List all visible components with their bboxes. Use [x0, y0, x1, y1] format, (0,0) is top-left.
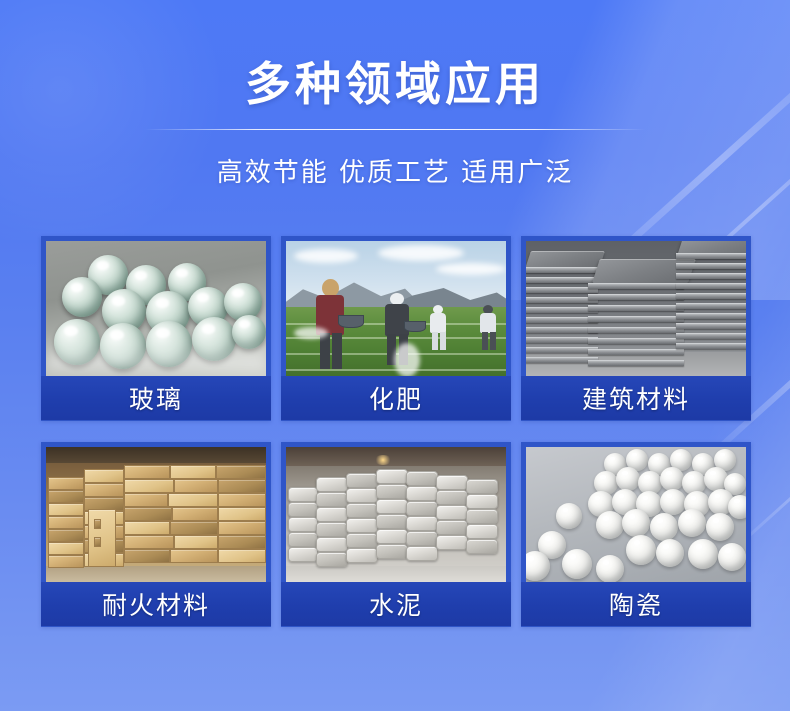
- card-image-glass: [46, 241, 266, 376]
- application-card-ceramic[interactable]: 陶瓷: [521, 442, 751, 627]
- card-image-refractory: [46, 447, 266, 582]
- title-divider: [145, 129, 645, 130]
- application-card-refractory[interactable]: 耐火材料: [41, 442, 271, 627]
- card-label-glass: 玻璃: [41, 376, 271, 420]
- application-cards-grid: 玻璃: [41, 236, 752, 627]
- card-label-ceramic: 陶瓷: [521, 582, 751, 626]
- application-card-fertilizer[interactable]: 化肥: [281, 236, 511, 421]
- page-title: 多种领域应用: [0, 58, 790, 111]
- card-image-cement: [286, 447, 506, 582]
- promo-banner: 多种领域应用 高效节能 优质工艺 适用广泛 玻璃: [0, 0, 790, 711]
- card-label-fertilizer: 化肥: [281, 376, 511, 420]
- application-card-building-materials[interactable]: 建筑材料: [521, 236, 751, 421]
- card-image-fertilizer: [286, 241, 506, 376]
- application-card-cement[interactable]: 水泥: [281, 442, 511, 627]
- card-image-building-materials: [526, 241, 746, 376]
- card-image-ceramic: [526, 447, 746, 582]
- page-subtitle: 高效节能 优质工艺 适用广泛: [0, 152, 790, 189]
- headline-block: 多种领域应用 高效节能 优质工艺 适用广泛: [0, 0, 790, 189]
- application-card-glass[interactable]: 玻璃: [41, 236, 271, 421]
- card-label-refractory: 耐火材料: [41, 582, 271, 626]
- card-label-building-materials: 建筑材料: [521, 376, 751, 420]
- card-label-cement: 水泥: [281, 582, 511, 626]
